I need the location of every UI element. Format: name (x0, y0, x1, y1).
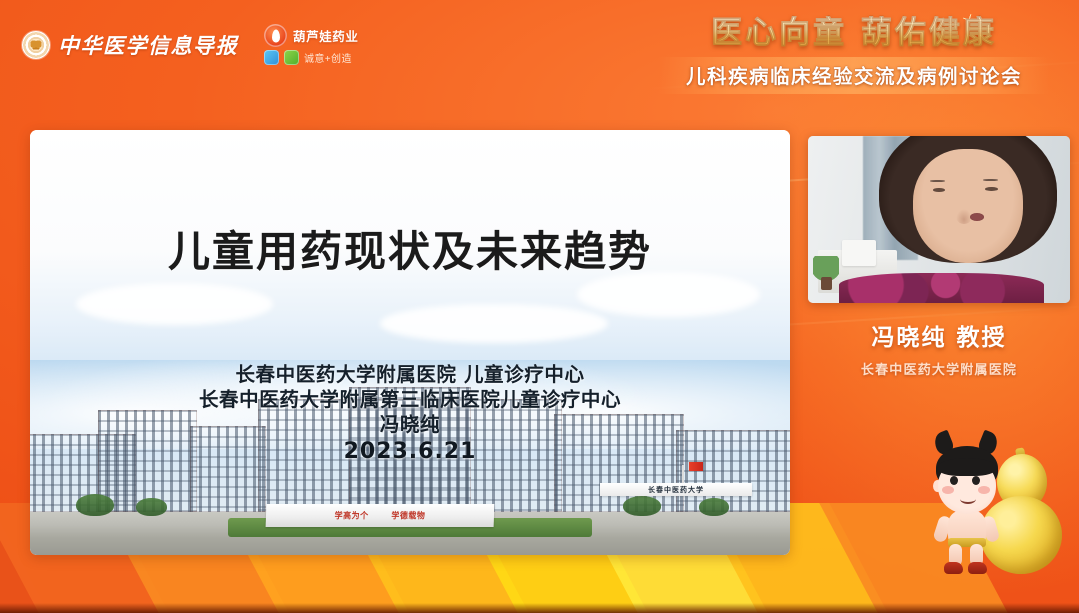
speaker-eye (933, 188, 945, 192)
tree-shape (699, 498, 729, 516)
mascot-cheek (978, 486, 990, 494)
gourd-flame-icon (264, 24, 287, 47)
mascot-cheek (942, 486, 954, 494)
monument-text-left: 学高为个 (334, 510, 368, 522)
slide-title: 儿童用药现状及未来趋势 (30, 218, 790, 279)
green-chip-icon (284, 50, 299, 65)
header-logo-row: 中华医学信息导报 葫芦娃药业 诚意+创造 (22, 24, 359, 65)
building-name-sign: 长春中医药大学 (600, 483, 752, 497)
presentation-slide[interactable]: 儿童用药现状及未来趋势 学高为个 学德载物 (30, 130, 790, 555)
speaker-caption: 冯晓纯 教授 长春中医药大学附属医院 (808, 318, 1070, 378)
cma-seal-icon (22, 31, 50, 59)
cloud-shape (380, 304, 608, 344)
speaker-name: 冯晓纯 教授 (808, 318, 1070, 352)
tree-shape (76, 494, 114, 516)
slide-subtitle-block: 长春中医药大学附属医院 儿童诊疗中心 长春中医药大学附属第三临床医院儿童诊疗中心… (30, 362, 790, 467)
slide-presenter-name: 冯晓纯 (30, 412, 790, 437)
slide-subtitle-line: 长春中医药大学附属医院 儿童诊疗中心 (30, 362, 790, 387)
mascot-eye (950, 476, 958, 485)
speaker-floral-shirt (839, 273, 1043, 303)
cloud-shape (76, 283, 274, 325)
huluwa-boy-icon (922, 440, 1014, 582)
event-subtitle-band: 儿科疾病临床经验交流及病例讨论会 (659, 57, 1049, 94)
event-title-block: 医心向童 葫佑健康 儿科疾病临床经验交流及病例讨论会 (659, 16, 1049, 94)
slide-date: 2023.6.21 (30, 437, 790, 467)
huluwa-tagline: 诚意+创造 (304, 50, 352, 65)
mascot-shoe (944, 562, 963, 574)
campus-monument: 学高为个 学德载物 (265, 504, 494, 527)
slide-subtitle-line: 长春中医药大学附属第三临床医院儿童诊疗中心 (30, 387, 790, 412)
event-subtitle: 儿科疾病临床经验交流及病例讨论会 (659, 60, 1049, 89)
cma-wordmark: 中华医学信息导报 (58, 30, 238, 60)
tree-shape (136, 498, 166, 516)
tree-shape (623, 496, 661, 516)
mascot-eye (972, 476, 980, 485)
huluwa-brand-text: 葫芦娃药业 (293, 26, 359, 45)
speaker-eyebrow (930, 180, 944, 182)
blue-chip-icon (264, 50, 279, 65)
mascot-bangs (938, 458, 996, 476)
huluwa-brand-row: 葫芦娃药业 (264, 24, 359, 47)
event-title: 医心向童 葫佑健康 (659, 16, 1049, 52)
webcam-box (842, 240, 876, 267)
monument-text-right: 学德载物 (391, 510, 425, 522)
speaker-face (913, 149, 1023, 263)
webcam-plant (813, 256, 839, 289)
bottom-vignette (0, 603, 1079, 613)
huluwa-tagline-row: 诚意+创造 (264, 50, 359, 65)
speaker-eyebrow (983, 179, 997, 181)
speaker-webcam[interactable] (808, 136, 1070, 303)
mascot-mouth (960, 494, 976, 504)
broadcast-screen: 中华医学信息导报 葫芦娃药业 诚意+创造 医心向童 葫佑健康 儿科疾病临床经验交… (0, 0, 1079, 613)
cma-journal-logo: 中华医学信息导报 (22, 30, 238, 60)
huluwa-mascot (916, 434, 1066, 586)
huluwa-sponsor-logo: 葫芦娃药业 诚意+创造 (264, 24, 359, 65)
speaker-organization: 长春中医药大学附属医院 (808, 359, 1070, 378)
speaker-eye (985, 187, 997, 191)
speaker-mouth (970, 213, 984, 221)
mascot-shoe (968, 562, 987, 574)
building-name-text: 长春中医药大学 (648, 485, 704, 495)
